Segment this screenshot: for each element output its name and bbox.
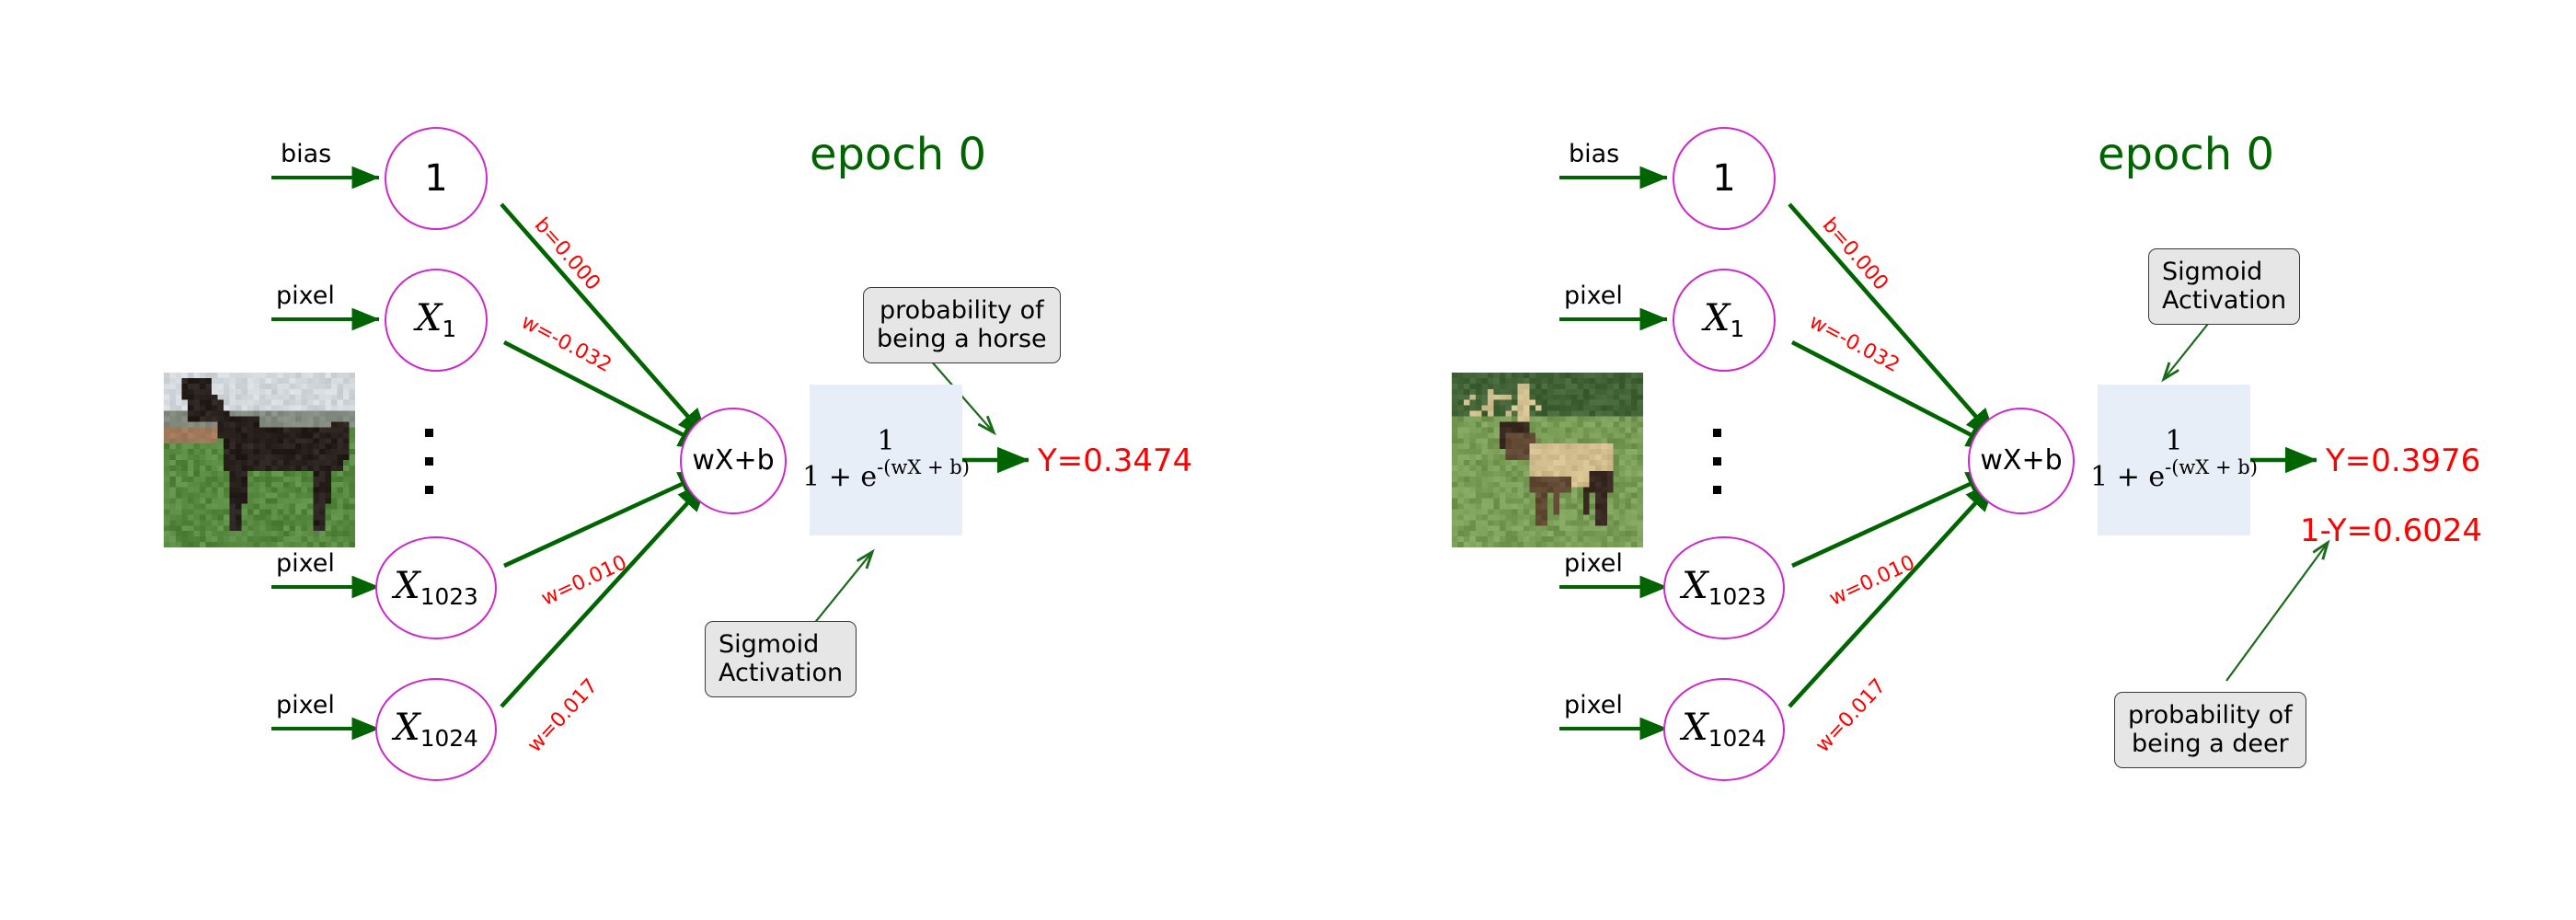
input-label-pixel-1023: pixel <box>276 549 335 578</box>
pixel-node-1024-label: X1024 <box>394 709 478 751</box>
pixel-node-1024[interactable]: X1024 <box>375 678 497 781</box>
bias-node-label: 1 <box>1712 160 1735 197</box>
probability-callout-line-1: probability of <box>2128 701 2293 730</box>
summation-node-label: wX+b <box>1980 447 2062 475</box>
bias-node-label: 1 <box>424 160 447 197</box>
pixel-node-1[interactable]: X1 <box>1673 269 1776 372</box>
weight-wires-right <box>1789 204 1998 707</box>
weight-wires-left <box>501 204 710 707</box>
pixel-node-1023[interactable]: X1023 <box>375 536 497 639</box>
ellipsis-dots <box>425 419 433 504</box>
formula-denominator: 1 + e-(wX + b) <box>800 461 972 493</box>
probability-callout-line-2: being a deer <box>2128 730 2293 758</box>
ellipsis-dots <box>1713 419 1721 504</box>
output-y: Y=0.3474 <box>1038 443 1192 479</box>
panel-horse: epoch 0 bias pixel pixel pixel 1 X1 X102… <box>0 0 1288 920</box>
formula-numerator: 1 <box>2165 425 2182 457</box>
probability-callout-line-2: being a horse <box>877 325 1047 353</box>
activation-callout: Sigmoid Activation <box>705 621 857 697</box>
probability-callout-line-1: probability of <box>877 296 1047 325</box>
formula-numerator: 1 <box>877 425 894 457</box>
sigmoid-formula: 1 1 + e-(wX + b) <box>800 427 972 493</box>
sigmoid-formula: 1 1 + e-(wX + b) <box>2088 427 2260 493</box>
probability-callout: probability of being a horse <box>863 287 1061 363</box>
pixel-node-1023[interactable]: X1023 <box>1663 536 1785 639</box>
pixel-node-1024[interactable]: X1024 <box>1663 678 1785 781</box>
figure-canvas: epoch 0 bias pixel pixel pixel 1 X1 X102… <box>0 0 2576 920</box>
summation-node[interactable]: wX+b <box>680 408 787 514</box>
probability-callout: probability of being a deer <box>2114 692 2306 768</box>
panel-deer: epoch 0 bias pixel pixel pixel 1 X1 X102… <box>1288 0 2576 920</box>
sigmoid-formula-box: 1 1 + e-(wX + b) <box>2098 385 2250 535</box>
input-label-bias: bias <box>281 140 331 168</box>
activation-callout-line-1: Sigmoid <box>719 630 843 659</box>
pixel-node-1023-label: X1023 <box>394 568 478 609</box>
pixel-node-1[interactable]: X1 <box>385 269 488 372</box>
epoch-title: epoch 0 <box>810 129 986 180</box>
input-label-pixel-1: pixel <box>1564 282 1623 310</box>
output-one-minus-y: 1-Y=0.6024 <box>2300 512 2482 549</box>
output-y: Y=0.3976 <box>2326 443 2480 479</box>
input-label-bias: bias <box>1569 140 1619 168</box>
epoch-title: epoch 0 <box>2098 129 2274 180</box>
summation-node[interactable]: wX+b <box>1968 408 2075 514</box>
probability-leader-right <box>2226 543 2328 681</box>
formula-denominator: 1 + e-(wX + b) <box>2088 461 2260 493</box>
pixel-node-1023-label: X1023 <box>1682 568 1766 609</box>
pixel-node-1-label: X1 <box>1704 300 1744 341</box>
input-image-deer <box>1452 373 1643 547</box>
bias-node[interactable]: 1 <box>385 127 488 230</box>
activation-leader-right <box>2164 324 2208 379</box>
input-label-pixel-1024: pixel <box>1564 691 1623 719</box>
activation-callout-line-2: Activation <box>2162 286 2286 315</box>
pixel-node-1-label: X1 <box>416 300 456 341</box>
input-label-pixel-1024: pixel <box>276 691 335 719</box>
activation-callout-line-1: Sigmoid <box>2162 258 2286 286</box>
activation-callout: Sigmoid Activation <box>2148 248 2300 325</box>
input-label-pixel-1: pixel <box>276 282 335 310</box>
summation-node-label: wX+b <box>692 447 774 475</box>
sigmoid-formula-box: 1 1 + e-(wX + b) <box>810 385 962 535</box>
activation-callout-line-2: Activation <box>719 659 843 687</box>
bias-node[interactable]: 1 <box>1673 127 1776 230</box>
input-label-pixel-1023: pixel <box>1564 549 1623 578</box>
input-image-horse <box>164 373 355 547</box>
pixel-node-1024-label: X1024 <box>1682 709 1766 751</box>
